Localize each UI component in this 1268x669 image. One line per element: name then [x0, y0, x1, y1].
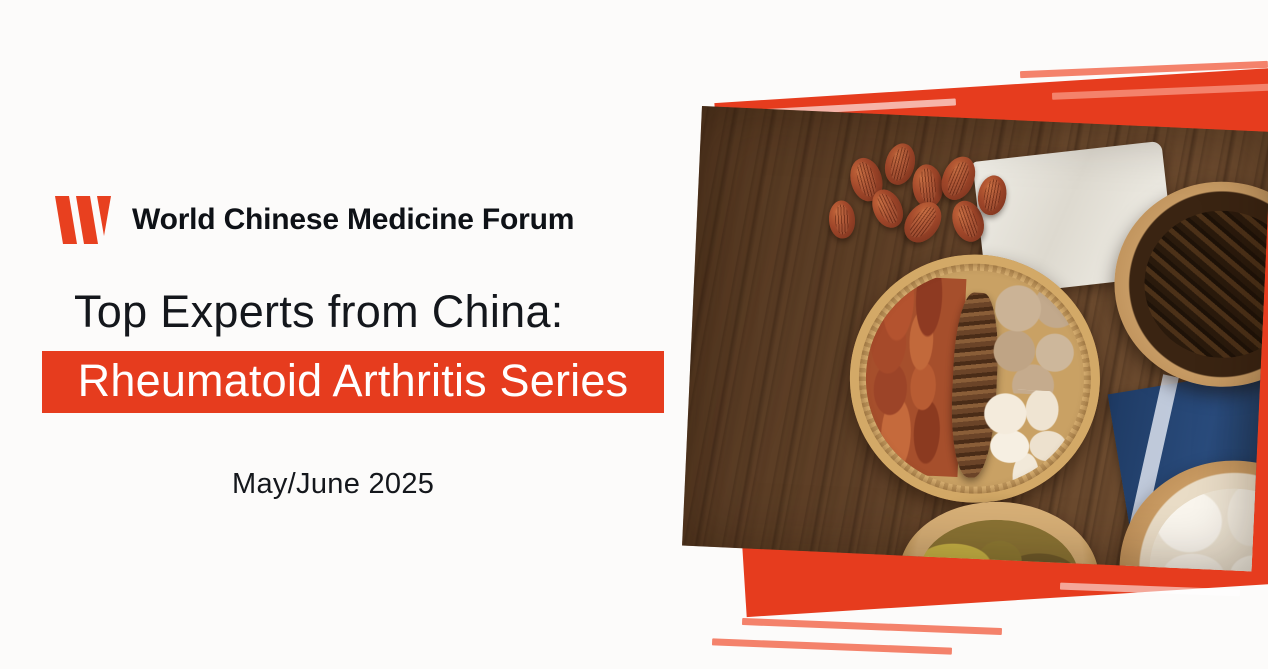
w-logo-icon: [52, 192, 114, 248]
event-date: May/June 2025: [232, 468, 434, 501]
brand-lockup: World Chinese Medicine Forum: [52, 192, 574, 248]
headline-line-2: Rheumatoid Arthritis Series: [78, 358, 629, 406]
photo-wood-table: [682, 106, 1268, 571]
deco-line-bottom-2: [712, 638, 952, 654]
bamboo-basket-main: [844, 249, 1105, 508]
brand-name: World Chinese Medicine Forum: [132, 203, 574, 237]
headline-highlight-band: Rheumatoid Arthritis Series: [42, 351, 664, 413]
text-column: World Chinese Medicine Forum Top Experts…: [0, 0, 700, 669]
headline-line-1: Top Experts from China:: [74, 286, 564, 338]
deco-line-bottom-1: [742, 618, 1002, 635]
image-composition: [690, 0, 1268, 669]
dark-roots-fill: [1141, 207, 1268, 361]
slide-canvas: World Chinese Medicine Forum Top Experts…: [0, 0, 1268, 669]
hero-photo: [682, 106, 1268, 571]
white-slices-fill: [1146, 485, 1268, 572]
